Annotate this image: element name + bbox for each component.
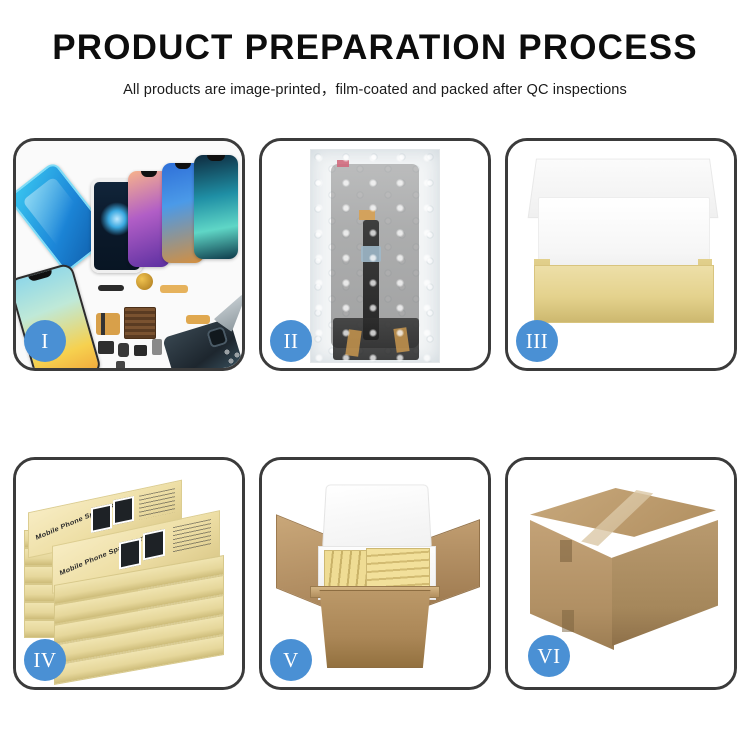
step-panel-6[interactable]: VI bbox=[505, 457, 737, 690]
step-badge-6: VI bbox=[528, 635, 570, 677]
small-part bbox=[152, 339, 162, 355]
carton-seam bbox=[560, 540, 572, 562]
foam-box-lid bbox=[322, 484, 432, 549]
box-window-image bbox=[91, 504, 112, 533]
box-window-image bbox=[143, 529, 165, 561]
box-window-image bbox=[113, 496, 134, 525]
box-spec-lines bbox=[139, 488, 175, 520]
bubble-wrap-bag bbox=[310, 149, 440, 363]
step-badge-3: III bbox=[516, 320, 558, 362]
product-preparation-infographic: PRODUCT PREPARATION PROCESS All products… bbox=[0, 0, 750, 750]
step-panel-2[interactable]: II bbox=[259, 138, 491, 371]
box-window-image bbox=[119, 538, 141, 570]
page-title: PRODUCT PREPARATION PROCESS bbox=[0, 28, 750, 68]
small-part bbox=[98, 341, 114, 354]
earpiece-part bbox=[98, 285, 124, 291]
lcd-label-sticker bbox=[337, 160, 349, 167]
spare-parts-group bbox=[94, 271, 242, 368]
step-badge-4: IV bbox=[24, 639, 66, 681]
step-panel-4[interactable]: Mobile Phone Spare Parts Mobile Phone Sp… bbox=[13, 457, 245, 690]
step-badge-5: V bbox=[270, 639, 312, 681]
notch-icon bbox=[28, 270, 53, 283]
lcd-connector-gold bbox=[359, 210, 375, 220]
step-panel-3[interactable]: III bbox=[505, 138, 737, 371]
carton-front-wall bbox=[312, 590, 438, 668]
speaker-part bbox=[136, 273, 153, 290]
box-spec-lines bbox=[173, 519, 211, 553]
ribbon-cable-part bbox=[96, 313, 120, 335]
small-part bbox=[116, 361, 125, 368]
process-steps-grid: I II bbox=[13, 138, 737, 690]
screws-group bbox=[224, 349, 242, 365]
carton-right-face bbox=[612, 520, 718, 646]
tray-front-wall bbox=[534, 265, 714, 323]
step-badge-2: II bbox=[270, 320, 312, 362]
notch-icon bbox=[175, 163, 192, 169]
small-part bbox=[134, 345, 147, 356]
carton-seam bbox=[562, 610, 574, 632]
header: PRODUCT PREPARATION PROCESS All products… bbox=[0, 28, 750, 99]
lcd-driver-ic bbox=[361, 246, 381, 262]
notch-icon bbox=[141, 171, 158, 177]
step-panel-1[interactable]: I bbox=[13, 138, 245, 371]
flex-cable-part bbox=[160, 285, 188, 293]
step-badge-1: I bbox=[24, 320, 66, 362]
notch-icon bbox=[207, 155, 225, 161]
step-panel-5[interactable]: V bbox=[259, 457, 491, 690]
flex-cable-part bbox=[186, 315, 210, 324]
small-part bbox=[118, 343, 129, 357]
chip-module-part bbox=[124, 307, 156, 339]
phone-teal bbox=[194, 155, 238, 259]
page-subtitle: All products are image-printed，film-coat… bbox=[0, 78, 750, 99]
